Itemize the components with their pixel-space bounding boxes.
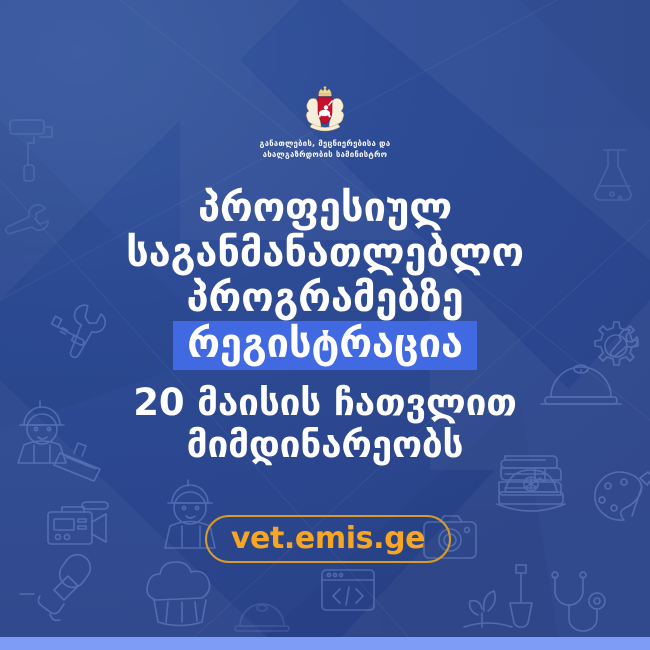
website-url-button[interactable]: vet.emis.ge bbox=[205, 515, 451, 563]
ministry-header: განათლების, მეცნიერებისა და ახალგაზრდობი… bbox=[0, 84, 650, 160]
headline-block: პროფესიულ საგანმანათლებლო პროგრამებზე რე… bbox=[0, 186, 650, 466]
headline-line-2: საგანმანათლებლო bbox=[0, 231, 650, 276]
headline-line-3: პროგრამებზე bbox=[0, 276, 650, 321]
promo-poster: განათლების, მეცნიერებისა და ახალგაზრდობი… bbox=[0, 0, 650, 650]
headline-line-6: მიმდინარეობს bbox=[0, 424, 650, 466]
headline-highlighted-line: რეგისტრაცია bbox=[0, 321, 650, 370]
ministry-name-line1: განათლების, მეცნიერებისა და bbox=[0, 139, 650, 150]
headline-highlight-text: რეგისტრაცია bbox=[173, 321, 477, 370]
ministry-name-line2: ახალგაზრდობის სამინისტრო bbox=[0, 150, 650, 161]
ministry-name: განათლების, მეცნიერებისა და ახალგაზრდობი… bbox=[0, 139, 650, 160]
headline-line-5: 20 მაისის ჩათვლით bbox=[0, 382, 650, 424]
website-url-label: vet.emis.ge bbox=[231, 524, 425, 554]
headline-line-1: პროფესიულ bbox=[0, 186, 650, 231]
headline-subblock: 20 მაისის ჩათვლით მიმდინარეობს bbox=[0, 382, 650, 466]
georgian-coat-of-arms-icon bbox=[303, 84, 347, 132]
bottom-accent-bar bbox=[0, 637, 650, 650]
